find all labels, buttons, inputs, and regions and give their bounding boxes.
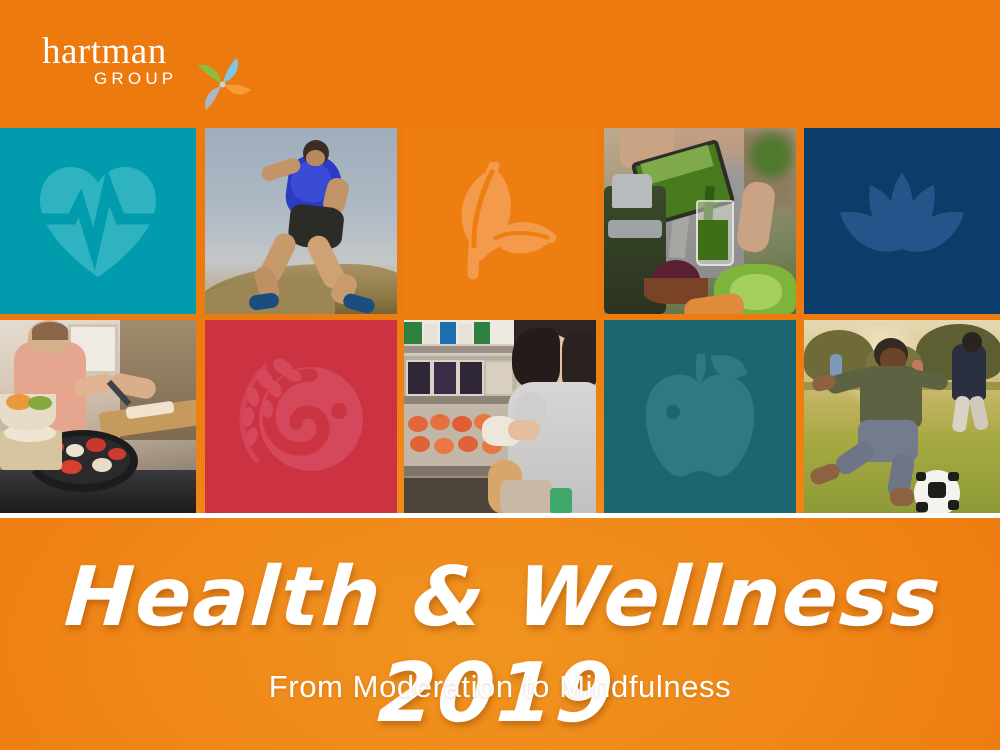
leaf-icon [439,162,561,280]
tile-soccer-photo [804,320,1000,514]
tile-swirl [205,320,397,514]
apple-icon [637,350,763,484]
tile-juicing-photo [604,128,796,314]
grocery-shopping-photo [404,320,596,514]
image-mosaic-grid [0,128,1000,514]
green-juice-photo [604,128,796,314]
tile-leaf [404,128,596,314]
logo-wordmark: hartman [42,32,167,72]
page-subtitle: From Moderation to Mindfulness [0,668,1000,706]
tile-grocery-photo [404,320,596,514]
lotus-icon [836,169,968,273]
tile-cooking-photo [0,320,196,514]
tile-heart-rate [0,128,196,314]
tile-apple [604,320,796,514]
heart-rate-icon [34,161,162,281]
tile-runner-photo [205,128,397,314]
page-title: Health & Wellness 2019 [0,550,1000,742]
family-cooking-photo [0,320,196,514]
tile-lotus [804,128,1000,314]
logo-subword: GROUP [94,70,177,88]
title-block: Health & Wellness 2019 From Moderation t… [0,518,1000,750]
pinwheel-logo-mark [192,57,254,113]
swirl-icon [231,349,371,485]
runner-photo [205,128,397,314]
kids-soccer-photo [804,320,1000,514]
hartman-group-logo[interactable]: hartman GROUP [40,32,270,94]
title-slide: hartman GROUP [0,0,1000,750]
